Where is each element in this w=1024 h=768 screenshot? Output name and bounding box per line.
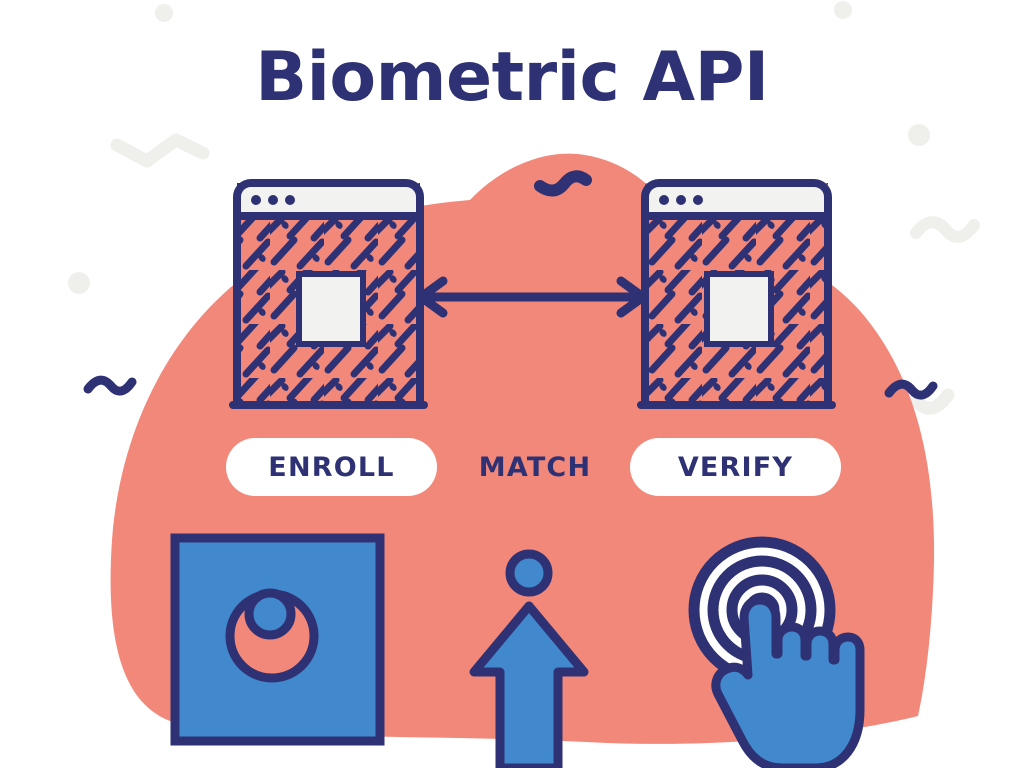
eye-scanner-square-icon[interactable] (175, 538, 380, 741)
browser-window-fingerprint-icon[interactable] (641, 183, 832, 405)
enroll-label-text: ENROLL (268, 452, 394, 483)
blank-card (299, 274, 363, 344)
match-label-text: MATCH (479, 452, 592, 483)
page-title: Biometric API (0, 44, 1024, 112)
illustration-stage: Biometric API ENROLL MATCH VERIFY (0, 0, 1024, 768)
browser-window-fingerprint-icon[interactable] (233, 183, 424, 405)
blank-card (707, 274, 771, 344)
squiggle-decoration-icon (916, 222, 974, 237)
verify-label-text: VERIFY (678, 452, 793, 483)
verify-label-pill[interactable]: VERIFY (630, 438, 841, 496)
window-dots (659, 195, 703, 205)
enroll-label-pill[interactable]: ENROLL (226, 438, 437, 496)
window-dots (251, 195, 295, 205)
match-label: MATCH (455, 438, 615, 496)
